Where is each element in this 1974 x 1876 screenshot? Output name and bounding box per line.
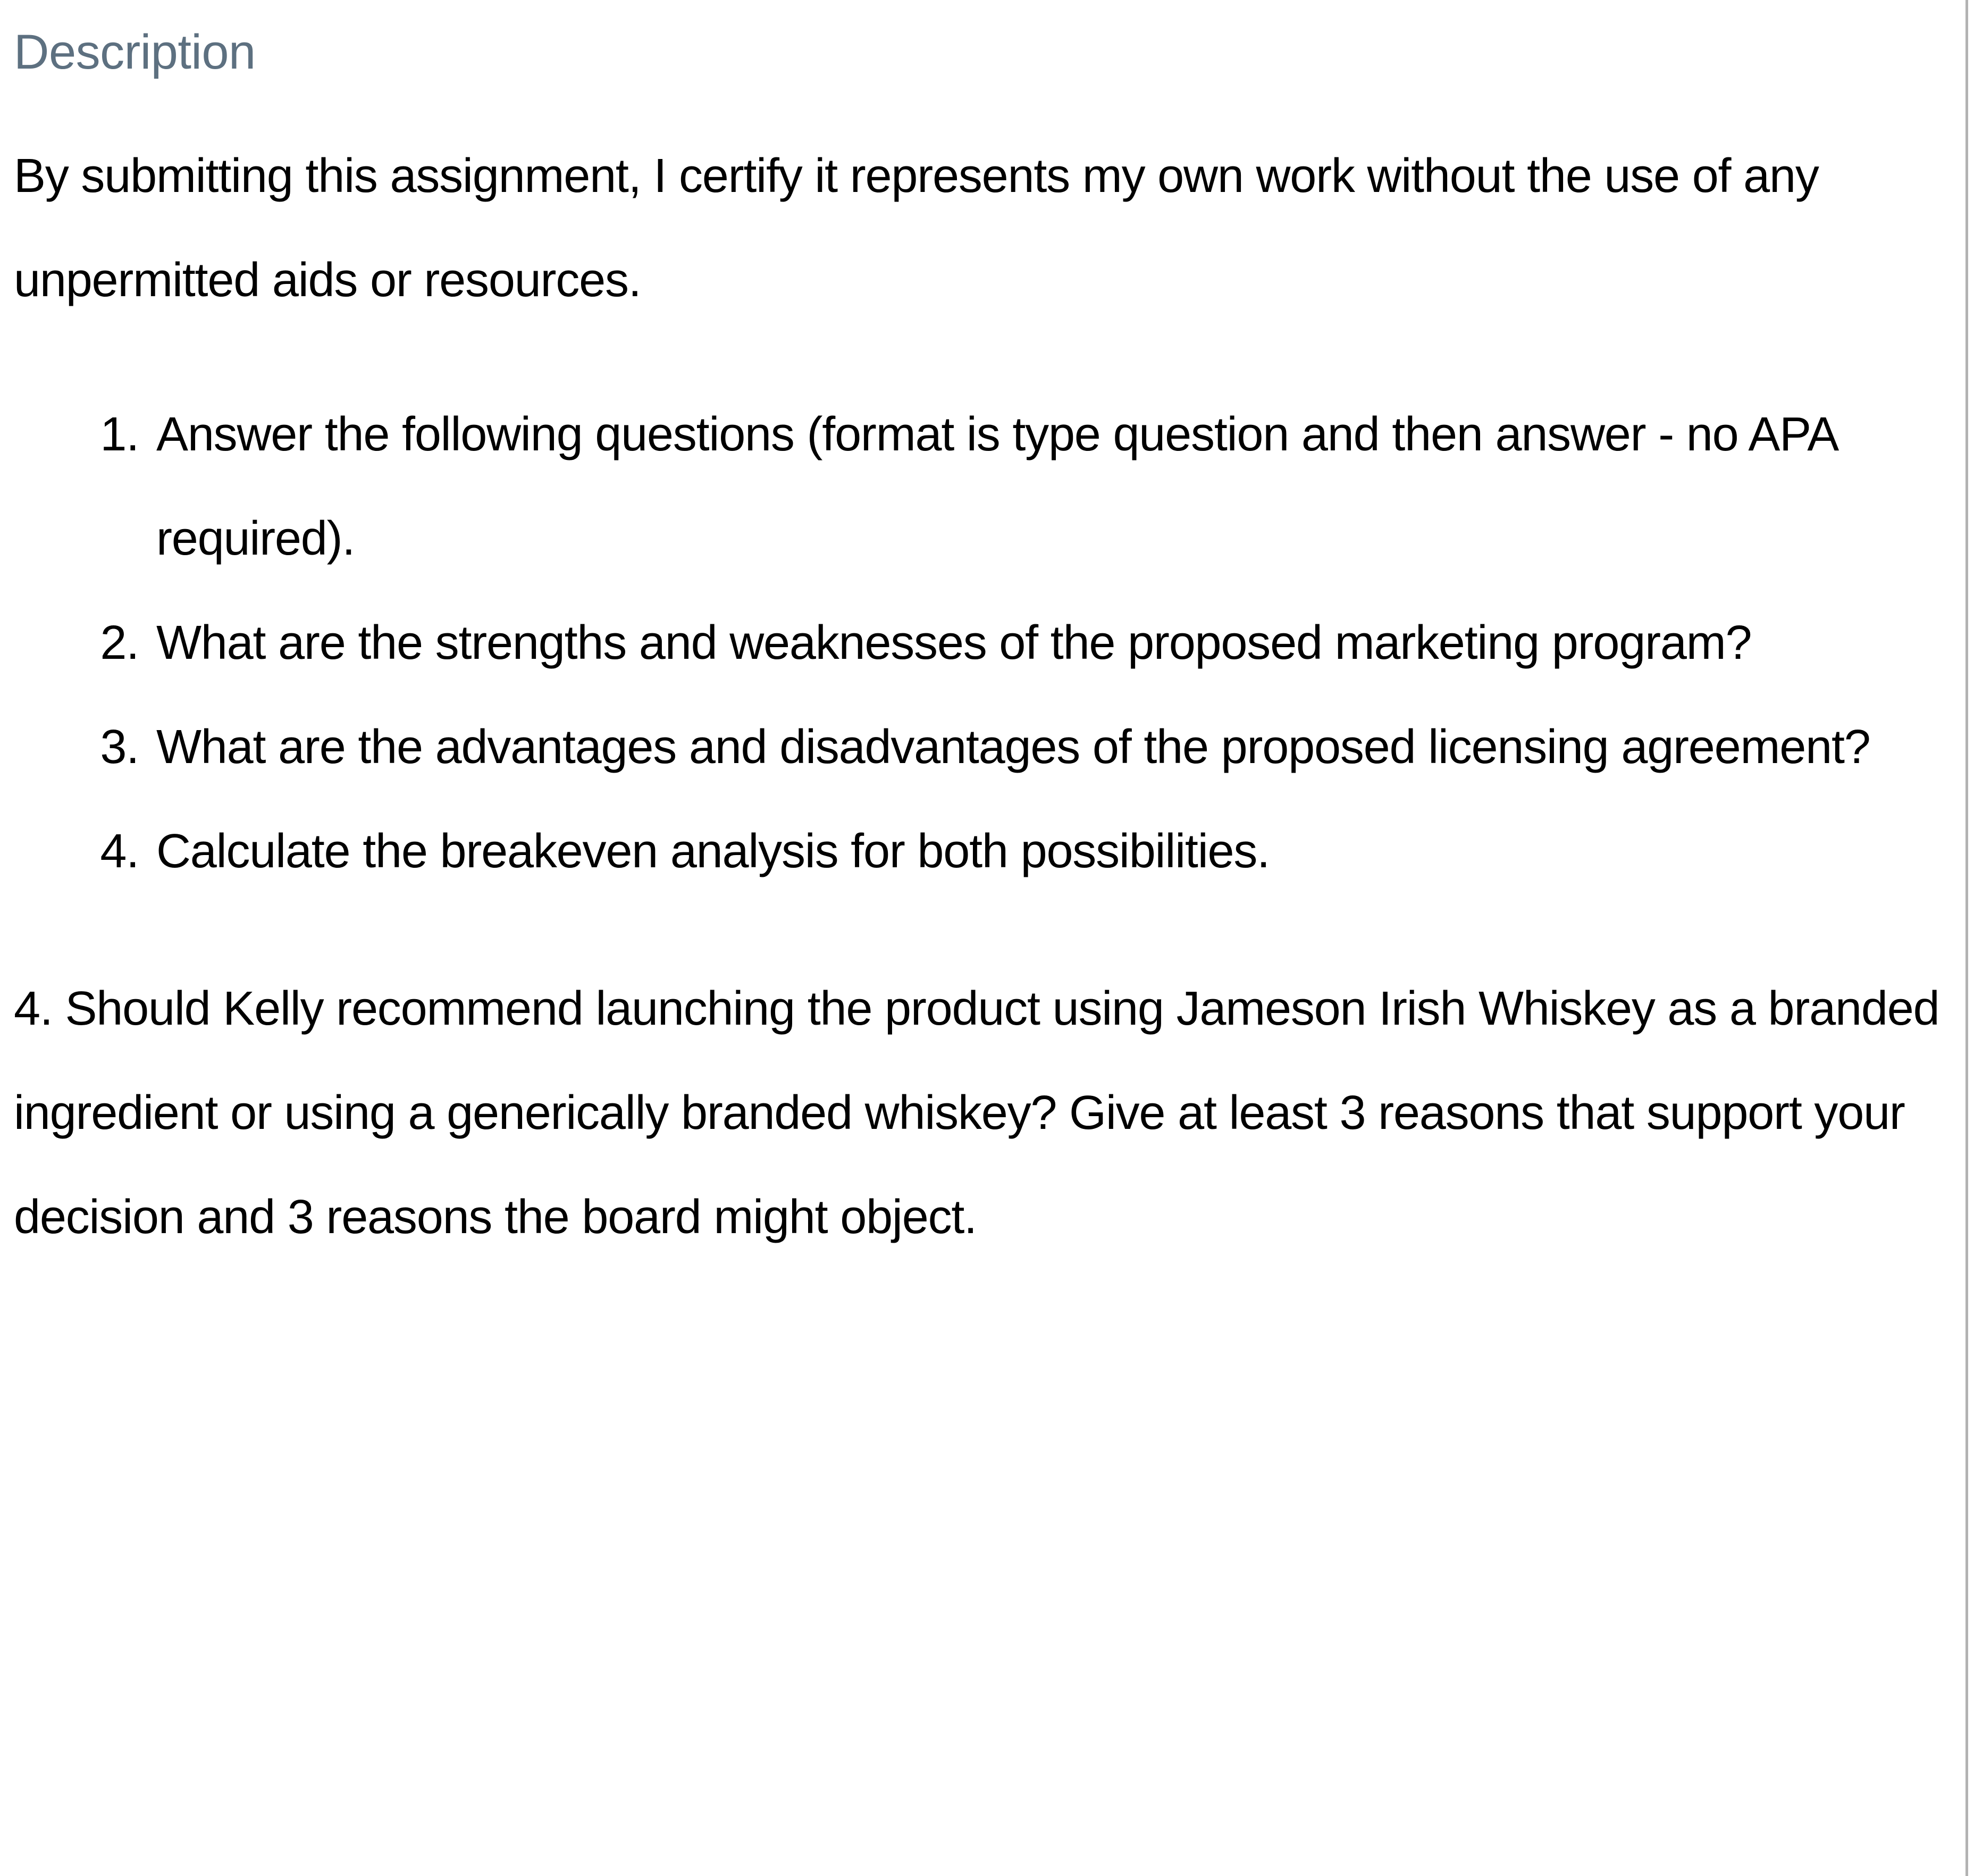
closing-question-paragraph: 4. Should Kelly recommend launching the … (14, 903, 1965, 1269)
list-item: What are the strengths and weaknesses of… (156, 591, 1965, 695)
question-list: Answer the following questions (format i… (14, 382, 1965, 903)
panel-right-divider (1965, 0, 1968, 1876)
description-scroll-region[interactable]: Description By submitting this assignmen… (0, 0, 1965, 1876)
certification-statement: By submitting this assignment, I certify… (14, 81, 1965, 332)
list-item: Answer the following questions (format i… (156, 382, 1965, 591)
assignment-description-panel: Description By submitting this assignmen… (0, 0, 1974, 1876)
page-title: Description (14, 0, 1965, 81)
list-item: What are the advantages and disadvantage… (156, 695, 1965, 799)
list-item: Calculate the breakeven analysis for bot… (156, 799, 1965, 903)
